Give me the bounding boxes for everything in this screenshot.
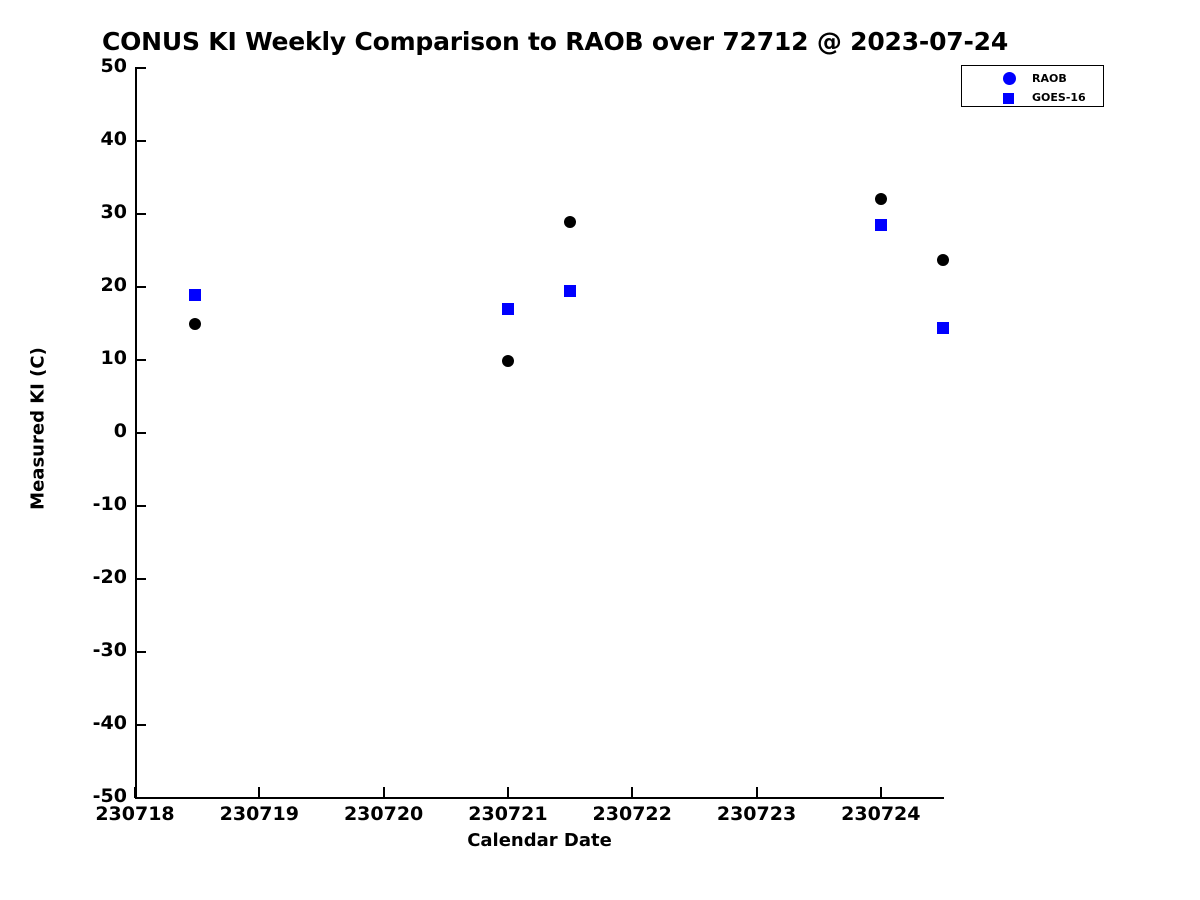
y-tick-label: 20 xyxy=(27,274,127,296)
data-point-raob xyxy=(875,193,887,205)
chart-legend: RAOBGOES-16 xyxy=(961,65,1104,107)
y-tick-label: 40 xyxy=(27,128,127,150)
y-tick-label: 50 xyxy=(27,55,127,77)
data-point-goes-16 xyxy=(875,219,887,231)
data-point-goes-16 xyxy=(937,322,949,334)
data-point-goes-16 xyxy=(189,289,201,301)
legend-label: GOES-16 xyxy=(1032,91,1086,104)
y-tick-label: -20 xyxy=(27,566,127,588)
data-point-raob xyxy=(937,254,949,266)
x-axis-label: Calendar Date xyxy=(135,830,944,851)
legend-square-icon xyxy=(1003,93,1014,104)
y-tick-label: -40 xyxy=(27,712,127,734)
data-point-goes-16 xyxy=(564,285,576,297)
y-tick-label: -30 xyxy=(27,639,127,661)
legend-circle-icon xyxy=(1003,72,1016,85)
data-point-raob xyxy=(189,318,201,330)
y-tick-label: 30 xyxy=(27,201,127,223)
chart-title: CONUS KI Weekly Comparison to RAOB over … xyxy=(0,27,1110,56)
data-point-goes-16 xyxy=(502,303,514,315)
x-tick-label: 230724 xyxy=(801,803,961,825)
plot-area xyxy=(135,68,943,798)
data-point-raob xyxy=(564,216,576,228)
data-point-raob xyxy=(502,355,514,367)
legend-item-raob[interactable]: RAOB xyxy=(962,69,1105,90)
chart-figure: CONUS KI Weekly Comparison to RAOB over … xyxy=(0,0,1200,900)
legend-label: RAOB xyxy=(1032,72,1067,85)
y-axis-label: Measured KI (C) xyxy=(28,319,49,539)
legend-item-goes-16[interactable]: GOES-16 xyxy=(962,88,1105,109)
